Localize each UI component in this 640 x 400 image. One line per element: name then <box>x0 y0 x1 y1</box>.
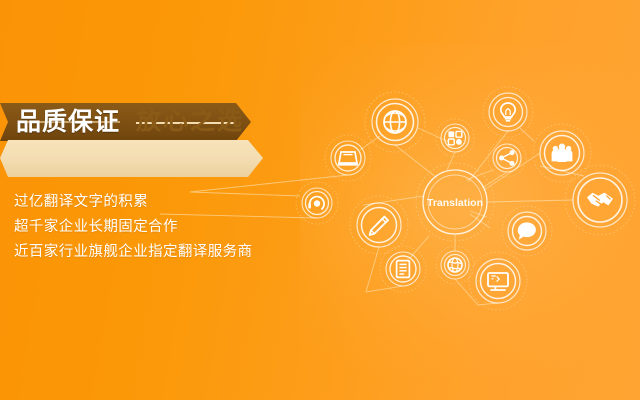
highlight-list: 过亿翻译文字的积累 超千家企业长期固定合作 近百家行业旗舰企业指定翻译服务商 <box>14 190 294 265</box>
node-share <box>488 139 526 177</box>
headline-ribbon: 品质保证 放心之选 <box>0 103 268 177</box>
node-monitor <box>469 252 527 310</box>
node-laptop <box>325 135 371 181</box>
document-icon <box>397 261 410 278</box>
list-item: 超千家企业长期固定合作 <box>14 215 294 240</box>
lightbulb-icon <box>501 103 515 121</box>
node-apps-grid <box>436 119 474 157</box>
node-headset <box>296 182 338 224</box>
share-icon <box>499 150 514 166</box>
monitor-icon <box>488 273 508 290</box>
chat-icon <box>518 222 536 239</box>
laptop-icon <box>338 152 358 166</box>
network-center-node: Translation <box>416 163 494 241</box>
ribbon-top-title: 品质保证 <box>16 108 120 136</box>
headset-icon <box>310 197 324 210</box>
list-item: 近百家行业旗舰企业指定翻译服务商 <box>14 240 294 265</box>
node-document <box>380 246 426 292</box>
promo-banner: Translation <box>0 0 640 400</box>
earth-icon <box>448 258 462 272</box>
people-icon <box>552 144 573 163</box>
list-item: 过亿翻译文字的积累 <box>14 190 294 215</box>
node-globe <box>365 92 425 152</box>
node-pencil <box>350 196 408 254</box>
handshake-icon <box>587 193 613 207</box>
ribbon-bottom-title: 放心之选 <box>136 106 244 136</box>
pencil-icon <box>370 217 388 235</box>
node-people <box>533 124 591 182</box>
network-center-label: Translation <box>427 197 483 209</box>
node-handshake <box>565 165 635 235</box>
node-chat <box>502 206 552 256</box>
node-lightbulb <box>483 87 533 137</box>
apps-grid-icon <box>448 131 461 144</box>
globe-icon <box>384 111 406 133</box>
node-earth <box>436 246 474 284</box>
ribbon-bottom-bar <box>0 140 263 177</box>
